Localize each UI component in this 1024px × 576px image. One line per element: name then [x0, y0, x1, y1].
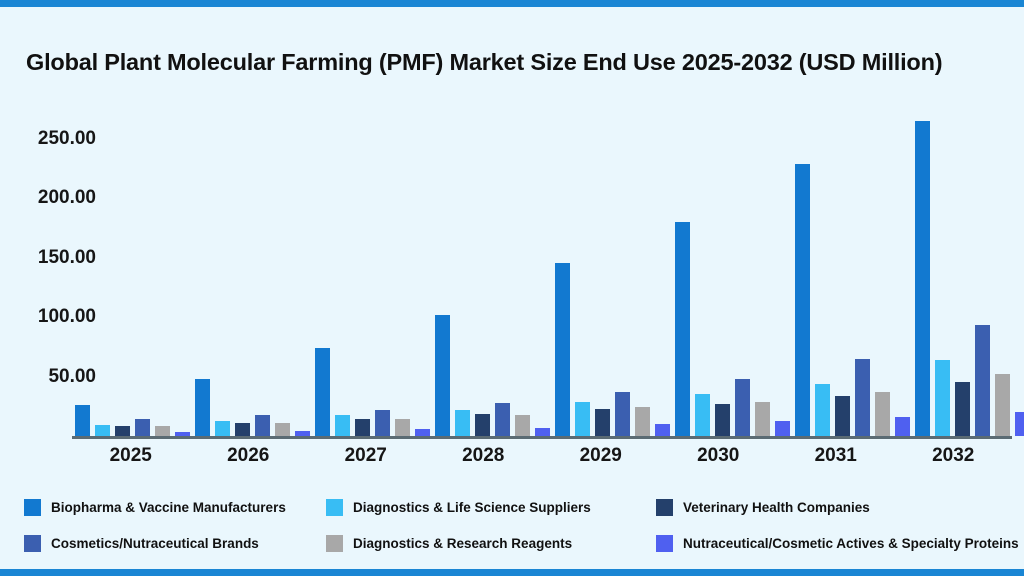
- legend-item[interactable]: Diagnostics & Life Science Suppliers: [326, 489, 656, 525]
- legend-row: Biopharma & Vaccine ManufacturersDiagnos…: [0, 489, 1024, 525]
- bar[interactable]: [1015, 412, 1024, 436]
- bar[interactable]: [395, 419, 410, 436]
- bar[interactable]: [535, 428, 550, 436]
- bar[interactable]: [75, 405, 90, 436]
- bar-group: [192, 67, 312, 436]
- legend-item[interactable]: Diagnostics & Research Reagents: [326, 525, 656, 561]
- bar-group: [912, 67, 1024, 436]
- bar[interactable]: [615, 392, 630, 436]
- legend-swatch-icon: [326, 535, 343, 552]
- legend-item[interactable]: Cosmetics/Nutraceutical Brands: [0, 525, 326, 561]
- bar[interactable]: [735, 379, 750, 436]
- bar[interactable]: [775, 421, 790, 436]
- x-tick-label: 2028: [425, 445, 543, 467]
- legend-row: Cosmetics/Nutraceutical BrandsDiagnostic…: [0, 525, 1024, 561]
- legend-swatch-icon: [656, 535, 673, 552]
- bar[interactable]: [955, 382, 970, 436]
- x-tick-label: 2032: [895, 445, 1013, 467]
- bar[interactable]: [595, 409, 610, 436]
- bar[interactable]: [355, 419, 370, 436]
- bar[interactable]: [175, 432, 190, 436]
- bar-group: [792, 67, 912, 436]
- x-tick-label: 2026: [190, 445, 308, 467]
- bar[interactable]: [155, 426, 170, 436]
- bar[interactable]: [795, 164, 810, 437]
- bar-groups: [72, 67, 1012, 436]
- legend-swatch-icon: [24, 499, 41, 516]
- bar[interactable]: [975, 325, 990, 436]
- chart-legend: Biopharma & Vaccine ManufacturersDiagnos…: [0, 489, 1024, 561]
- x-tick-label: 2031: [777, 445, 895, 467]
- bar[interactable]: [875, 392, 890, 436]
- legend-swatch-icon: [656, 499, 673, 516]
- bar[interactable]: [655, 424, 670, 436]
- legend-item[interactable]: Biopharma & Vaccine Manufacturers: [0, 489, 326, 525]
- bar[interactable]: [755, 402, 770, 437]
- bar[interactable]: [715, 404, 730, 436]
- x-tick-label: 2027: [307, 445, 425, 467]
- bar[interactable]: [915, 121, 930, 436]
- bar[interactable]: [415, 429, 430, 436]
- bar-group: [432, 67, 552, 436]
- bar-group: [552, 67, 672, 436]
- bar[interactable]: [295, 431, 310, 436]
- bar-group: [312, 67, 432, 436]
- bar-group: [72, 67, 192, 436]
- x-tick-label: 2029: [542, 445, 660, 467]
- bar[interactable]: [695, 394, 710, 436]
- bar[interactable]: [895, 417, 910, 436]
- bar[interactable]: [835, 396, 850, 436]
- bar[interactable]: [475, 414, 490, 436]
- legend-label: Diagnostics & Research Reagents: [353, 536, 572, 551]
- bar[interactable]: [855, 359, 870, 436]
- bar[interactable]: [935, 360, 950, 436]
- legend-label: Cosmetics/Nutraceutical Brands: [51, 536, 259, 551]
- legend-label: Biopharma & Vaccine Manufacturers: [51, 500, 286, 515]
- bar[interactable]: [215, 421, 230, 436]
- bar[interactable]: [635, 407, 650, 436]
- bar[interactable]: [235, 423, 250, 436]
- bar[interactable]: [455, 410, 470, 436]
- x-tick-label: 2025: [72, 445, 190, 467]
- bar[interactable]: [315, 348, 330, 436]
- bar[interactable]: [275, 423, 290, 436]
- legend-label: Veterinary Health Companies: [683, 500, 870, 515]
- legend-swatch-icon: [24, 535, 41, 552]
- chart-stage: Global Plant Molecular Farming (PMF) Mar…: [0, 7, 1024, 569]
- bar[interactable]: [495, 403, 510, 436]
- bar[interactable]: [95, 425, 110, 436]
- legend-item[interactable]: Nutraceutical/Cosmetic Actives & Special…: [656, 525, 1016, 561]
- top-accent-bar: [0, 0, 1024, 7]
- bar[interactable]: [815, 384, 830, 436]
- bar[interactable]: [375, 410, 390, 436]
- bar[interactable]: [255, 415, 270, 436]
- bar-group: [672, 67, 792, 436]
- bar[interactable]: [195, 379, 210, 436]
- bar[interactable]: [335, 415, 350, 436]
- legend-label: Nutraceutical/Cosmetic Actives & Special…: [683, 536, 1019, 551]
- bar[interactable]: [115, 426, 130, 436]
- bar[interactable]: [575, 402, 590, 437]
- legend-item[interactable]: Veterinary Health Companies: [656, 489, 1016, 525]
- bar[interactable]: [995, 374, 1010, 436]
- legend-swatch-icon: [326, 499, 343, 516]
- bottom-accent-bar: [0, 569, 1024, 576]
- bar[interactable]: [555, 263, 570, 436]
- bar[interactable]: [675, 222, 690, 436]
- bar[interactable]: [515, 415, 530, 436]
- bar[interactable]: [135, 419, 150, 436]
- x-tick-label: 2030: [660, 445, 778, 467]
- bar[interactable]: [435, 315, 450, 436]
- plot-area: 50.00100.00150.00200.00250.00 2025202620…: [0, 7, 1024, 477]
- legend-label: Diagnostics & Life Science Suppliers: [353, 500, 591, 515]
- x-axis-labels: 20252026202720282029203020312032: [72, 445, 1012, 467]
- x-axis-line: [72, 436, 1012, 439]
